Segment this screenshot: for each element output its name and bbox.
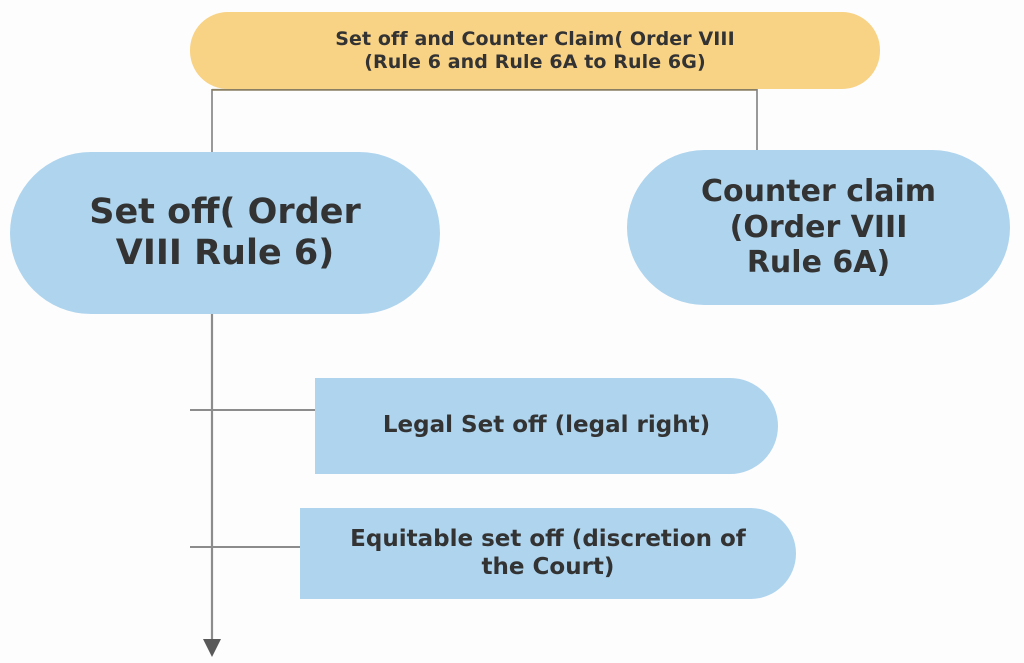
node-counter-claim[interactable]: Counter claim (Order VIII Rule 6A) (627, 150, 1010, 305)
arrowhead-icon (203, 639, 221, 657)
flowchart-canvas: Set off and Counter Claim( Order VIII (R… (0, 0, 1024, 663)
node-equitable-set-off[interactable]: Equitable set off (discretion of the Cou… (300, 508, 796, 599)
node-legal-set-off[interactable]: Legal Set off (legal right) (315, 378, 778, 474)
node-set-off[interactable]: Set off( Order VIII Rule 6) (10, 152, 440, 314)
node-set-off-and-counter-claim[interactable]: Set off and Counter Claim( Order VIII (R… (190, 12, 880, 89)
